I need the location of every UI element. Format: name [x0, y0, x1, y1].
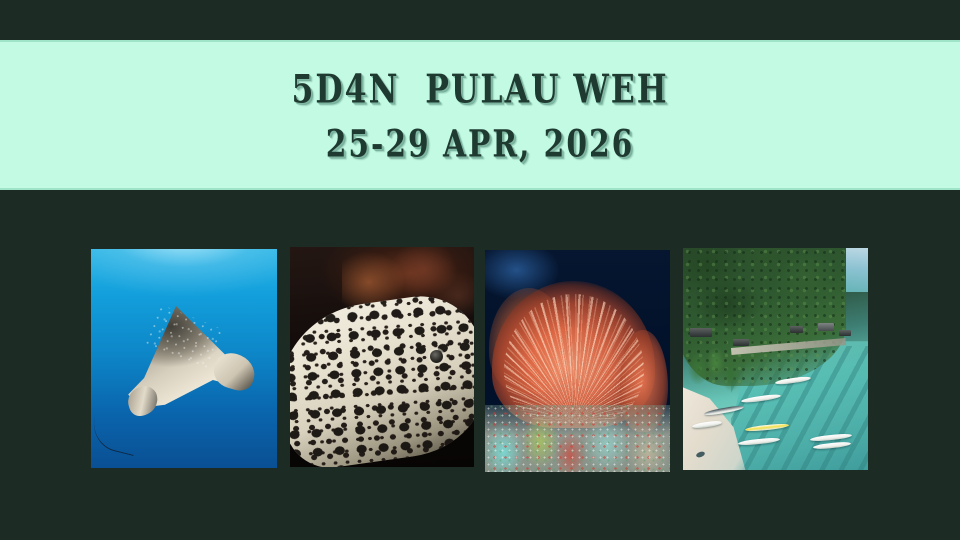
boat [741, 393, 781, 404]
boat [738, 437, 780, 446]
beach-hut [690, 328, 712, 337]
boat [775, 375, 811, 385]
beach-moored-boats [690, 363, 860, 465]
sea-fan-photo-content [485, 250, 670, 472]
eagle-ray-photo-content [91, 249, 277, 468]
photo-iboih-beach-aerial[interactable] [683, 248, 868, 470]
boat [745, 422, 789, 432]
beach-hut [839, 330, 851, 336]
photo-honeycomb-moray-eel[interactable] [290, 247, 474, 467]
beach-hut [790, 326, 803, 333]
reef-coral-speckle [485, 405, 670, 472]
moray-eel-photo-content [290, 247, 474, 467]
sea-fan-reef-floor [485, 405, 670, 472]
slide-subtitle-dates: 25-29 APR, 2026 [326, 125, 635, 164]
eagle-ray-tail [91, 397, 145, 456]
moray-eel-spot-pattern [290, 288, 474, 467]
boat [813, 441, 851, 450]
boat [809, 433, 851, 442]
photo-gallery [0, 190, 960, 540]
title-banner: 5D4N PULAU WEH 25-29 APR, 2026 [0, 40, 960, 190]
boat [692, 420, 722, 429]
moray-eel-body [290, 288, 474, 467]
photo-orange-sea-fan-coral[interactable] [485, 250, 670, 472]
beach-hut [818, 323, 834, 331]
page-title: 5D4N PULAU WEH [291, 70, 668, 111]
photo-spotted-eagle-ray[interactable] [91, 249, 277, 468]
boat [704, 405, 744, 417]
beach-photo-content [683, 248, 868, 470]
presentation-slide: 5D4N PULAU WEH 25-29 APR, 2026 [0, 0, 960, 540]
banner-top-rule [0, 40, 960, 42]
